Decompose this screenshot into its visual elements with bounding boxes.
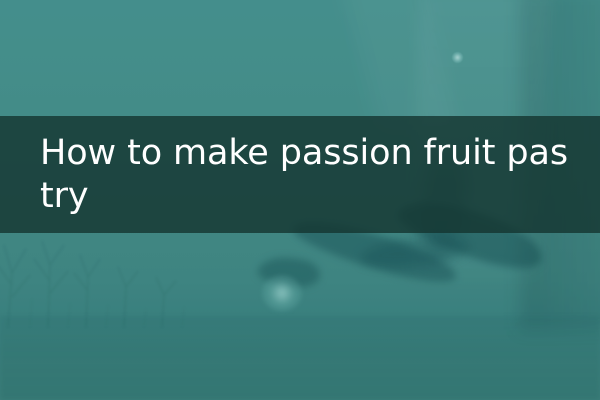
page-title: How to make passion fruit pastry	[40, 132, 580, 218]
article-title-card: How to make passion fruit pastry	[0, 0, 600, 400]
